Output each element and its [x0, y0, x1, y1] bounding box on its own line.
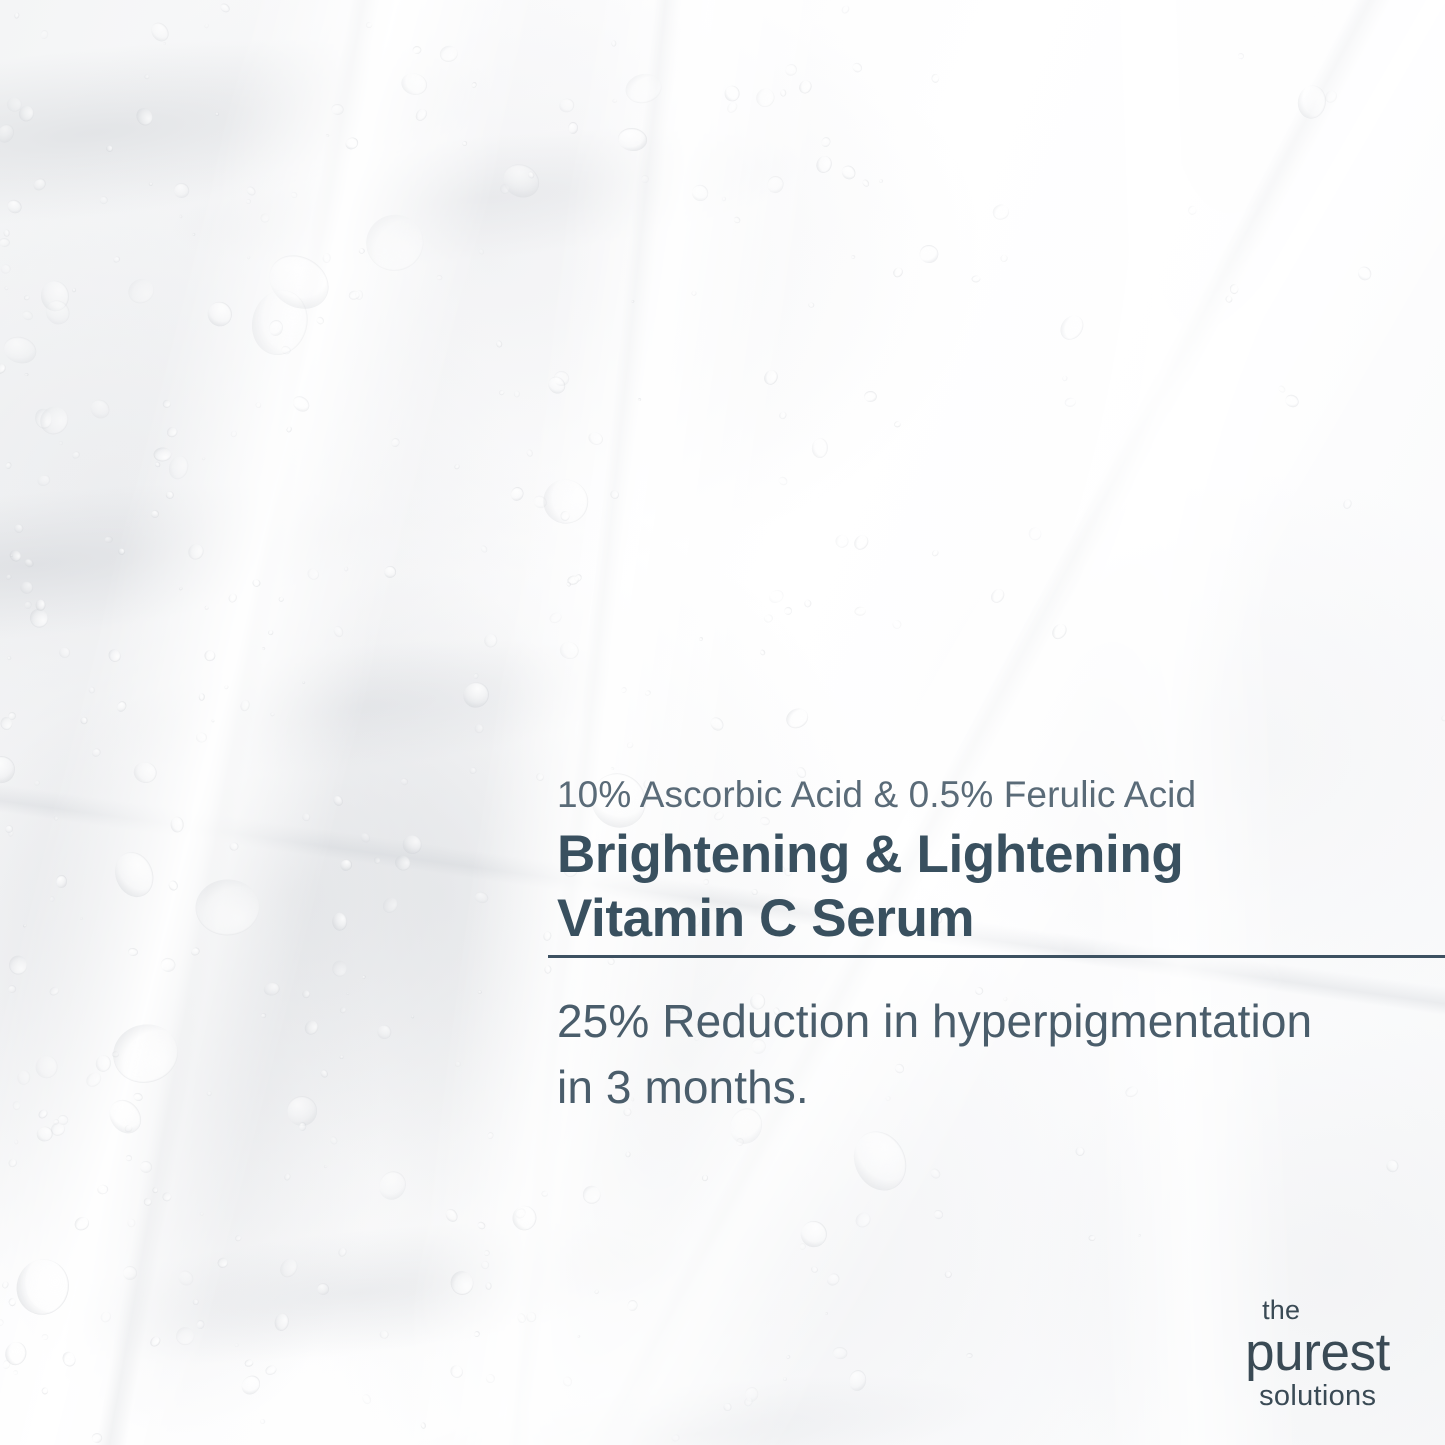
ingredient-eyebrow: 10% Ascorbic Acid & 0.5% Ferulic Acid — [557, 774, 1397, 815]
gel-background-ridges — [0, 0, 1445, 1445]
efficacy-claim: 25% Reduction in hyperpigmentation in 3 … — [557, 988, 1357, 1120]
gel-background-highlights — [0, 0, 1445, 1445]
brand-logo-line-solutions: solutions — [1245, 1382, 1390, 1411]
brand-logo-line-the: the — [1245, 1297, 1390, 1324]
headline-line-2: Vitamin C Serum — [557, 887, 1397, 951]
product-copy-block: 10% Ascorbic Acid & 0.5% Ferulic Acid Br… — [557, 774, 1397, 951]
brand-logo-line-purest: purest — [1245, 1326, 1390, 1379]
product-marketing-image: 10% Ascorbic Acid & 0.5% Ferulic Acid Br… — [0, 0, 1445, 1445]
headline-line-1: Brightening & Lightening — [557, 823, 1397, 887]
product-headline: Brightening & Lightening Vitamin C Serum — [557, 823, 1397, 950]
gel-background-base — [0, 0, 1445, 1445]
brand-logo: the purest solutions — [1245, 1297, 1390, 1411]
gel-background-swirls — [0, 0, 1445, 1445]
gel-bubbles-texture — [0, 0, 1445, 1445]
section-divider-rule — [548, 955, 1445, 958]
